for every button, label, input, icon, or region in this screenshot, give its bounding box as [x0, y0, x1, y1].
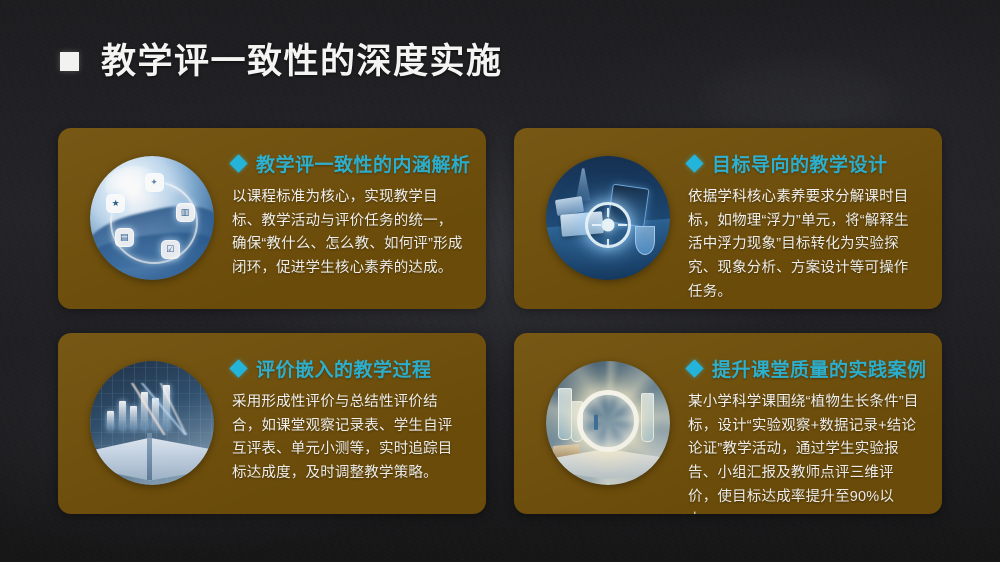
- card-body: 评价嵌入的教学过程 采用形成性评价与总结性评价结合，如课堂观察记录表、学生自评互…: [222, 333, 486, 496]
- chart-icon: ▥: [176, 203, 195, 222]
- cyan-diamond-icon: [229, 359, 247, 377]
- document-icon: ▤: [115, 228, 134, 247]
- card-heading-text: 提升课堂质量的实践案例: [712, 355, 927, 382]
- card-heading: 目标导向的教学设计: [688, 150, 920, 177]
- lab-glow-ring-thumbnail: [546, 361, 670, 485]
- cyan-diamond-icon: [229, 154, 247, 172]
- card-heading-text: 评价嵌入的教学过程: [256, 355, 432, 382]
- bar-chart-icon: [594, 413, 622, 429]
- card-grid: ✦ ▥ ☑ ▤ ★ 教学评一致性的内涵解析 以课程标准为核心，实现教学目标、教学…: [58, 128, 942, 514]
- cyan-diamond-icon: [685, 154, 703, 172]
- card-item[interactable]: 提升课堂质量的实践案例 某小学科学课围绕“植物生长条件”目标，设计“实验观察+数…: [514, 333, 942, 514]
- card-item[interactable]: ✦ ▥ ☑ ▤ ★ 教学评一致性的内涵解析 以课程标准为核心，实现教学目标、教学…: [58, 128, 486, 309]
- card-body: 提升课堂质量的实践案例 某小学科学课围绕“植物生长条件”目标，设计“实验观察+数…: [678, 333, 942, 514]
- card-heading-text: 教学评一致性的内涵解析: [256, 150, 471, 177]
- card-body: 目标导向的教学设计 依据学科核心素养要求分解课时目标，如物理“浮力”单元，将“解…: [678, 128, 942, 309]
- page-title: 教学评一致性的深度实施: [101, 44, 503, 79]
- card-item[interactable]: 目标导向的教学设计 依据学科核心素养要求分解课时目标，如物理“浮力”单元，将“解…: [514, 128, 942, 309]
- card-description: 以课程标准为核心，实现教学目标、教学活动与评价任务的统一，确保“教什么、怎么教、…: [232, 186, 464, 281]
- card-item[interactable]: 评价嵌入的教学过程 采用形成性评价与总结性评价结合，如课堂观察记录表、学生自评互…: [58, 333, 486, 514]
- card-description: 采用形成性评价与总结性评价结合，如课堂观察记录表、学生自评互评表、单元小测等，实…: [232, 391, 464, 486]
- card-thumbnail: [90, 361, 214, 485]
- checklist-icon: ☑: [161, 240, 180, 259]
- card-description: 依据学科核心素养要求分解课时目标，如物理“浮力”单元，将“解释生活中浮力现象”目…: [688, 186, 920, 304]
- card-heading: 教学评一致性的内涵解析: [232, 150, 464, 177]
- filled-square-icon: [60, 52, 79, 71]
- book-growth-chart-thumbnail: [90, 361, 214, 485]
- card-heading: 提升课堂质量的实践案例: [688, 355, 920, 382]
- card-heading: 评价嵌入的教学过程: [232, 355, 464, 382]
- page-header: 教学评一致性的深度实施: [60, 44, 503, 79]
- card-heading-text: 目标导向的教学设计: [712, 150, 888, 177]
- network-sphere-thumbnail: ✦ ▥ ☑ ▤ ★: [90, 156, 214, 280]
- card-body: 教学评一致性的内涵解析 以课程标准为核心，实现教学目标、教学活动与评价任务的统一…: [222, 128, 486, 291]
- card-thumbnail: [546, 361, 670, 485]
- slide-canvas: 教学评一致性的深度实施 ✦ ▥ ☑ ▤ ★: [0, 0, 1000, 562]
- study-desk-target-thumbnail: [546, 156, 670, 280]
- cyan-diamond-icon: [685, 359, 703, 377]
- card-description: 某小学科学课围绕“植物生长条件”目标，设计“实验观察+数据记录+结论论证”教学活…: [688, 391, 920, 514]
- card-thumbnail: ✦ ▥ ☑ ▤ ★: [90, 156, 214, 280]
- card-thumbnail: [546, 156, 670, 280]
